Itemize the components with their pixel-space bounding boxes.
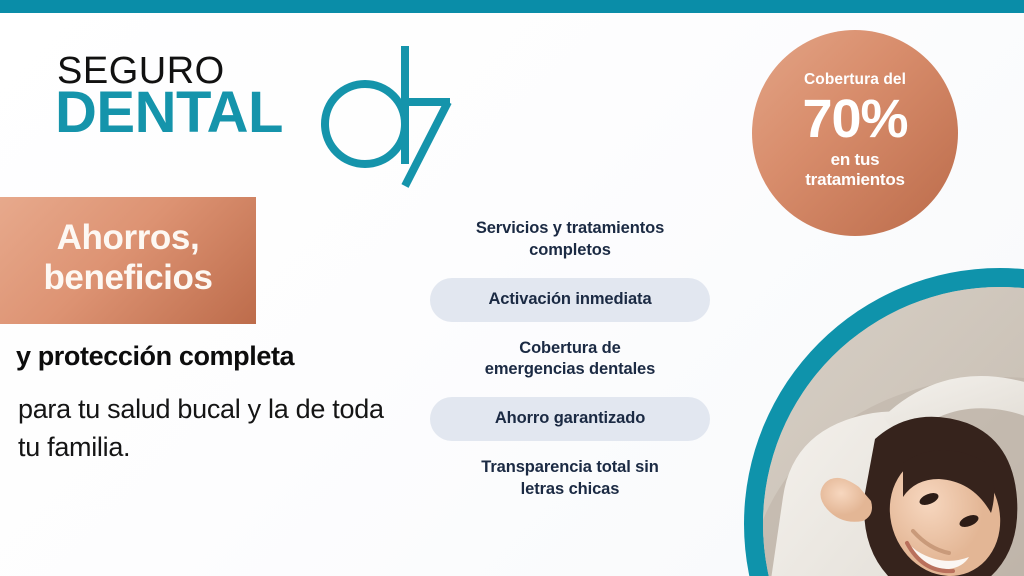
coverage-badge-value: 70%: [802, 92, 907, 147]
feature-item[interactable]: Transparencia total sin letras chicas: [430, 451, 710, 507]
family-photo-ring: [744, 268, 1024, 576]
feature-item[interactable]: Activación inmediata: [430, 278, 710, 322]
body-copy: para tu salud bucal y la de toda tu fami…: [18, 390, 388, 467]
brand-logo[interactable]: SEGURO DENTAL: [55, 48, 455, 188]
promo-poster: SEGURO DENTAL Ahorros, beneficios y prot…: [0, 0, 1024, 576]
coverage-badge-bottom-label: en tus tratamientos: [805, 150, 905, 190]
family-photo: [763, 287, 1024, 576]
top-accent-bar: [0, 0, 1024, 13]
headline-highlight-text: Ahorros, beneficios: [43, 218, 212, 296]
feature-item[interactable]: Servicios y tratamientos completos: [430, 212, 710, 268]
coverage-badge: Cobertura del 70% en tus tratamientos: [752, 30, 958, 236]
headline-highlight-block: Ahorros, beneficios: [0, 197, 256, 324]
coverage-badge-top-label: Cobertura del: [804, 72, 906, 88]
d7-monogram-icon: [317, 40, 457, 190]
feature-list: Servicios y tratamientos completos Activ…: [430, 212, 710, 517]
logo-word-dental: DENTAL: [55, 84, 283, 142]
feature-item[interactable]: Ahorro garantizado: [430, 397, 710, 441]
feature-item[interactable]: Cobertura de emergencias dentales: [430, 332, 710, 388]
sub-headline: y protección completa: [16, 342, 294, 372]
